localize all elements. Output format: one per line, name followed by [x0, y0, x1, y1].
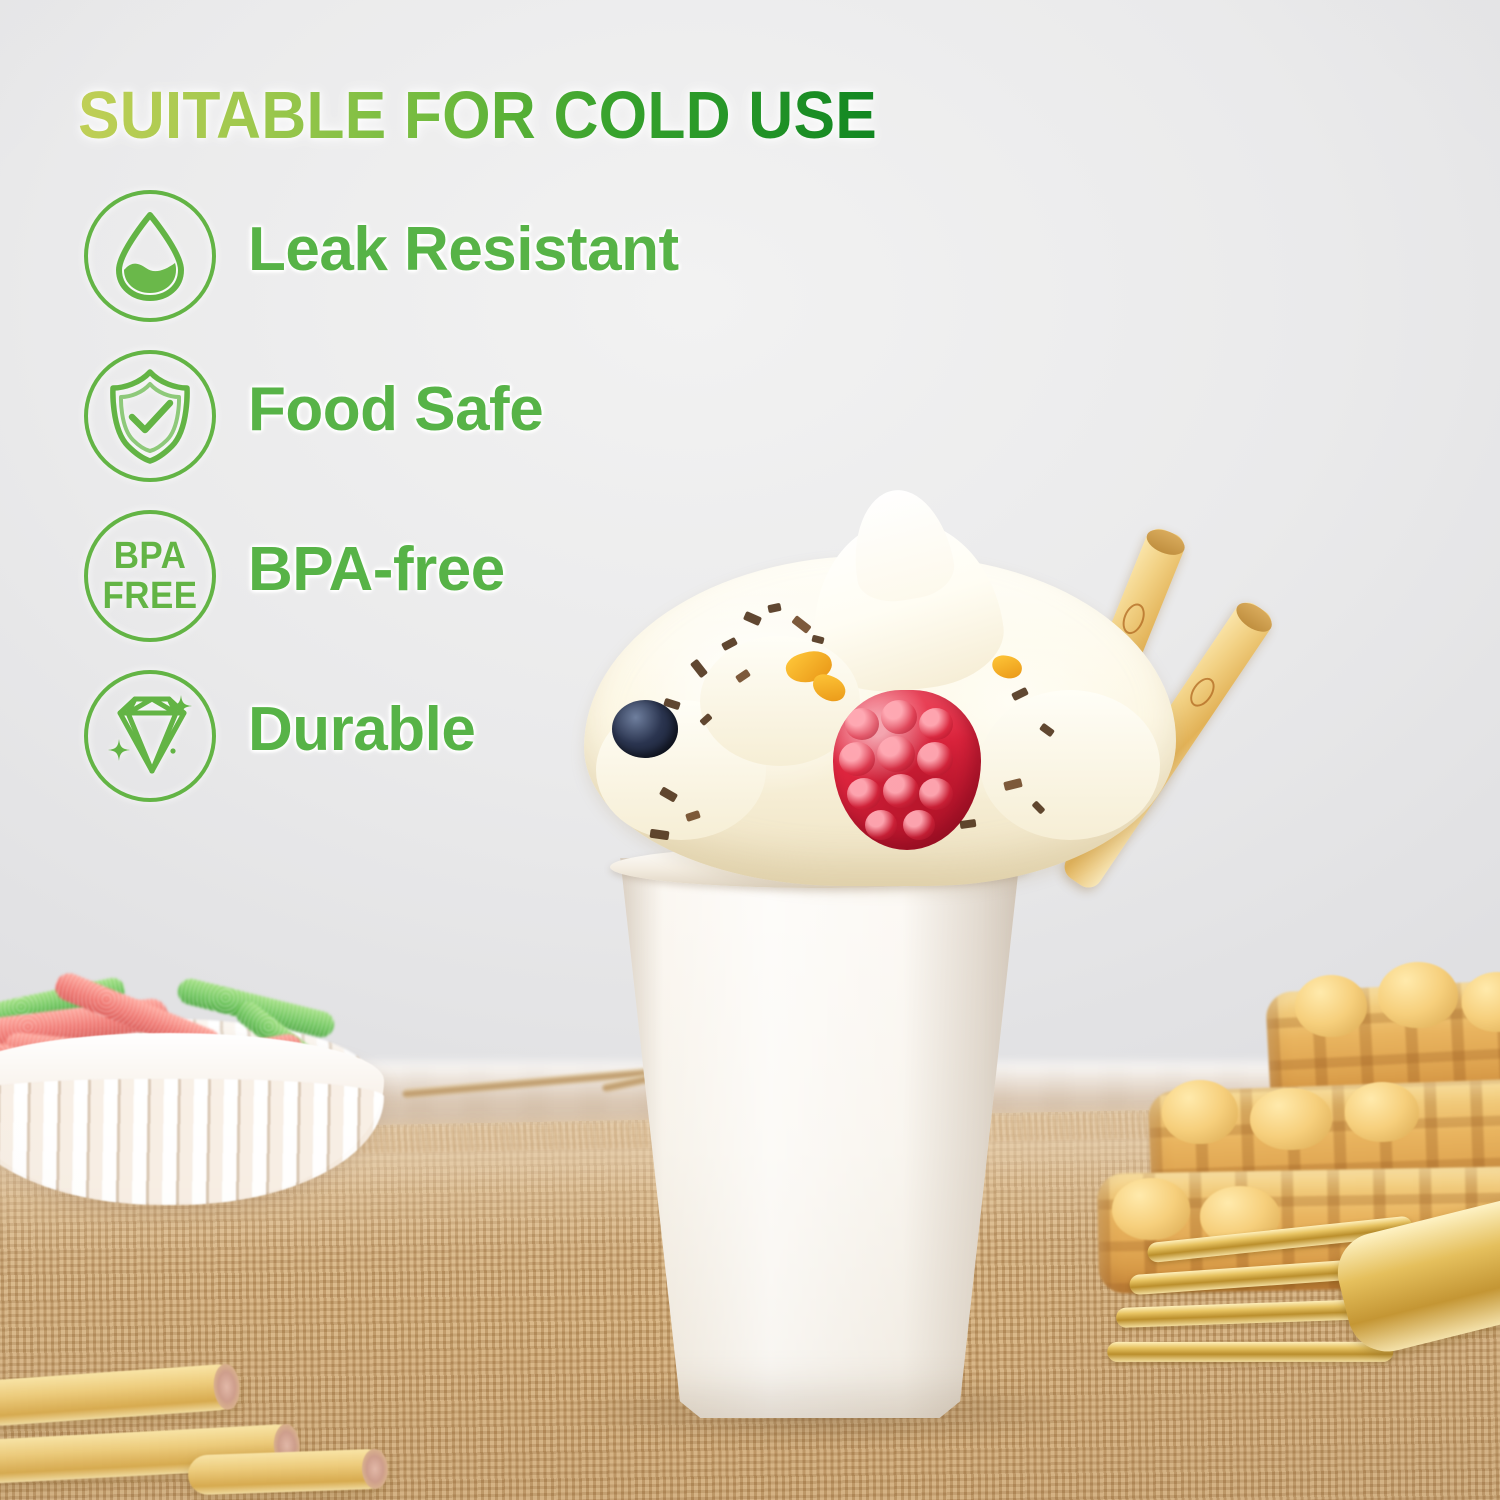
- bpa-badge-line2: FREE: [93, 576, 207, 616]
- photo-vignette: [0, 0, 1500, 1500]
- shield-check-icon: [84, 350, 216, 482]
- feature-label: BPA-free: [248, 534, 505, 605]
- bpa-free-icon: BPA FREE: [84, 510, 216, 642]
- feature-label: Food Safe: [248, 374, 543, 445]
- page-title: SUITABLE FOR COLD USE: [78, 82, 877, 149]
- product-infographic: SUITABLE FOR COLD USE Leak Resistant: [0, 0, 1500, 1500]
- product-photo: [0, 0, 1500, 1500]
- bpa-badge-line1: BPA: [93, 536, 207, 576]
- feature-label: Leak Resistant: [248, 214, 679, 285]
- water-drop-icon: [84, 190, 216, 322]
- diamond-sparkle-icon: [84, 670, 216, 802]
- feature-label: Durable: [248, 694, 475, 765]
